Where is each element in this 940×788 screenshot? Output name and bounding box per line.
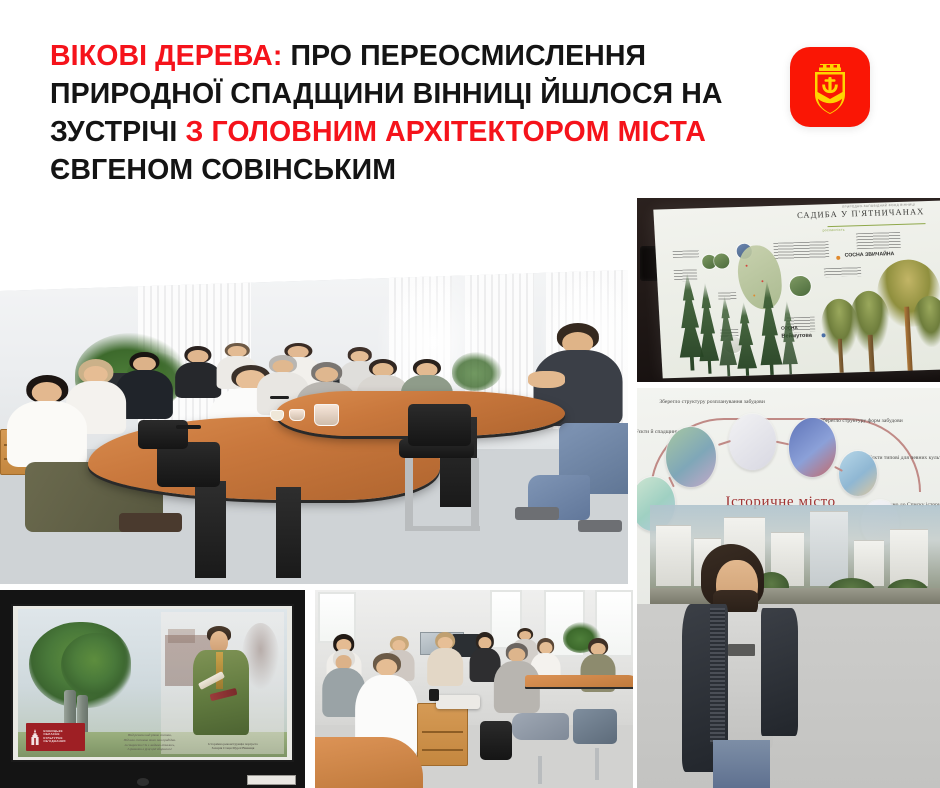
presentation-slide-istorychne-misto-photo: Зберегло структуру розпланування забудов… (637, 388, 940, 788)
slide-note-right: Об'єкти типові для певних культур або пе… (864, 455, 940, 462)
city-photo-band (650, 505, 940, 604)
presentation-slide-sadyba-photo: ПРИРОДНО-ЗАПОВІДНИЙ ФОНД ВІННИЦІ САДИБА … (637, 198, 940, 382)
headline-red-part-1: ВІКОВІ ДЕРЕВА: (50, 40, 282, 72)
poster-verse: Над речкою над рікою сосонка, Під нею сп… (115, 733, 185, 752)
poster-caption: Історична реконструкція портрета Захарія… (190, 742, 276, 752)
social-media-poster: ВІКОВІ ДЕРЕВА: ПРО ПЕРЕОСМИСЛЕННЯ ПРИРОД… (0, 0, 940, 788)
boks-logo-text: ВІННИЦЬКЕ ОБЛАСНЕ КУЛЬТУРНЕ ОБ'ЄДНАННЯ (43, 730, 65, 744)
coat-of-arms-icon (804, 58, 856, 116)
boks-organization-logo: ВІННИЦЬКЕ ОБЛАСНЕ КУЛЬТУРНЕ ОБ'ЄДНАННЯ (26, 723, 85, 751)
page-title: ВІКОВІ ДЕРЕВА: ПРО ПЕРЕОСМИСЛЕННЯ ПРИРОД… (50, 38, 730, 190)
slide-subtitle: рослинність (823, 228, 845, 233)
tower-icon (29, 729, 41, 745)
slide-note-top-right: Зберегло структуру форм забудови (820, 418, 903, 425)
projector (436, 695, 481, 709)
headline-dark-part-2: ЄВГЕНОМ СОВІНСЬКИМ (50, 154, 396, 186)
legend-label-sosna-zvychayna: СОСНА ЗВИЧАЙНА (845, 252, 895, 260)
meeting-room-main-photo (0, 262, 628, 584)
projection-screen: ПРИРОДНО-ЗАПОВІДНИЙ ФОНД ВІННИЦІ САДИБА … (654, 201, 940, 379)
audience-listening-photo (315, 590, 633, 788)
vinnytsia-coat-of-arms-logo (790, 47, 870, 127)
person (119, 352, 169, 416)
person (429, 632, 461, 683)
wall-plaque (247, 775, 296, 785)
slide-title: САДИБА У П'ЯТНИЧАНАХ (797, 207, 925, 221)
chair (408, 404, 471, 446)
poster-artwork: Над речкою над рікою сосонка, Під нею сп… (18, 609, 286, 756)
slide-note-top-left: Зберегло структуру розпланування забудов… (659, 399, 765, 406)
chair (157, 442, 220, 487)
framed-oak-poster-photo: Над речкою над рікою сосонка, Під нею сп… (0, 590, 305, 788)
headline-red-part-2: З ГОЛОВНИМ АРХІТЕКТОРОМ МІСТА (185, 116, 705, 148)
projection-screen: Зберегло структуру розпланування забудов… (637, 388, 940, 604)
